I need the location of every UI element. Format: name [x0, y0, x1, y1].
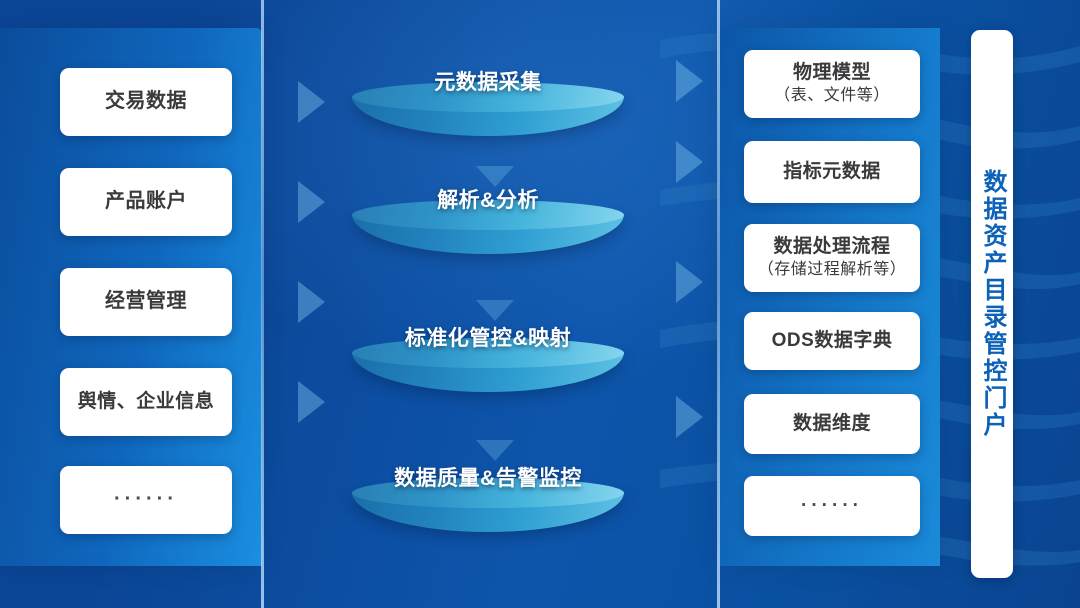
column-divider-right — [717, 0, 720, 608]
arrow-right-icon — [676, 60, 703, 102]
output-card-data-dimension[interactable]: 数据维度 — [744, 394, 920, 454]
output-card-label: 数据维度 — [793, 412, 871, 436]
arrow-right-icon — [676, 261, 703, 303]
arrow-right-icon — [676, 396, 703, 438]
pipeline-stage-label: 元数据采集 — [352, 66, 624, 96]
arrow-right-icon — [298, 81, 325, 123]
source-card-product-account[interactable]: 产品账户 — [60, 168, 232, 236]
arrow-right-icon — [298, 381, 325, 423]
output-card-label: ······ — [801, 494, 863, 518]
source-card-label: 产品账户 — [105, 189, 187, 215]
diagram-canvas: 交易数据 产品账户 经营管理 舆情、企业信息 ······ 元数据采集 解析&分… — [0, 0, 1080, 608]
output-card-physical-model[interactable]: 物理模型 （表、文件等） — [744, 50, 920, 118]
source-card-business-management[interactable]: 经营管理 — [60, 268, 232, 336]
source-card-transaction-data[interactable]: 交易数据 — [60, 68, 232, 136]
source-card-public-opinion-enterprise-info[interactable]: 舆情、企业信息 — [60, 368, 232, 436]
output-card-ods-data-dictionary[interactable]: ODS数据字典 — [744, 312, 920, 370]
arrow-right-icon — [298, 281, 325, 323]
output-card-more[interactable]: ······ — [744, 476, 920, 536]
pipeline-stage-label: 解析&分析 — [352, 184, 624, 214]
source-card-label: 交易数据 — [105, 89, 187, 115]
source-card-label: 舆情、企业信息 — [78, 390, 215, 414]
arrow-right-icon — [298, 181, 325, 223]
output-card-label: ODS数据字典 — [772, 329, 893, 353]
output-card-label: 指标元数据 — [783, 160, 881, 184]
portal-bar[interactable]: 数据资产目录管控门户 — [971, 30, 1013, 578]
output-card-label: 物理模型 — [793, 61, 871, 85]
output-card-label: 数据处理流程 — [773, 235, 890, 259]
portal-title: 数据资产目录管控门户 — [980, 169, 1004, 439]
output-card-data-processing-flow[interactable]: 数据处理流程 （存储过程解析等） — [744, 224, 920, 292]
arrow-right-icon — [676, 141, 703, 183]
output-card-subtitle: （存储过程解析等） — [758, 260, 907, 280]
source-card-label: 经营管理 — [105, 289, 187, 315]
source-card-label: ······ — [114, 487, 178, 513]
pipeline-stage-label: 标准化管控&映射 — [352, 322, 624, 352]
output-card-indicator-metadata[interactable]: 指标元数据 — [744, 141, 920, 203]
arrow-down-icon — [476, 440, 514, 461]
arrow-down-icon — [476, 300, 514, 321]
source-card-more[interactable]: ······ — [60, 466, 232, 534]
pipeline-stage-label: 数据质量&告警监控 — [352, 462, 624, 492]
output-card-subtitle: （表、文件等） — [774, 86, 890, 106]
column-divider-left — [261, 0, 264, 608]
